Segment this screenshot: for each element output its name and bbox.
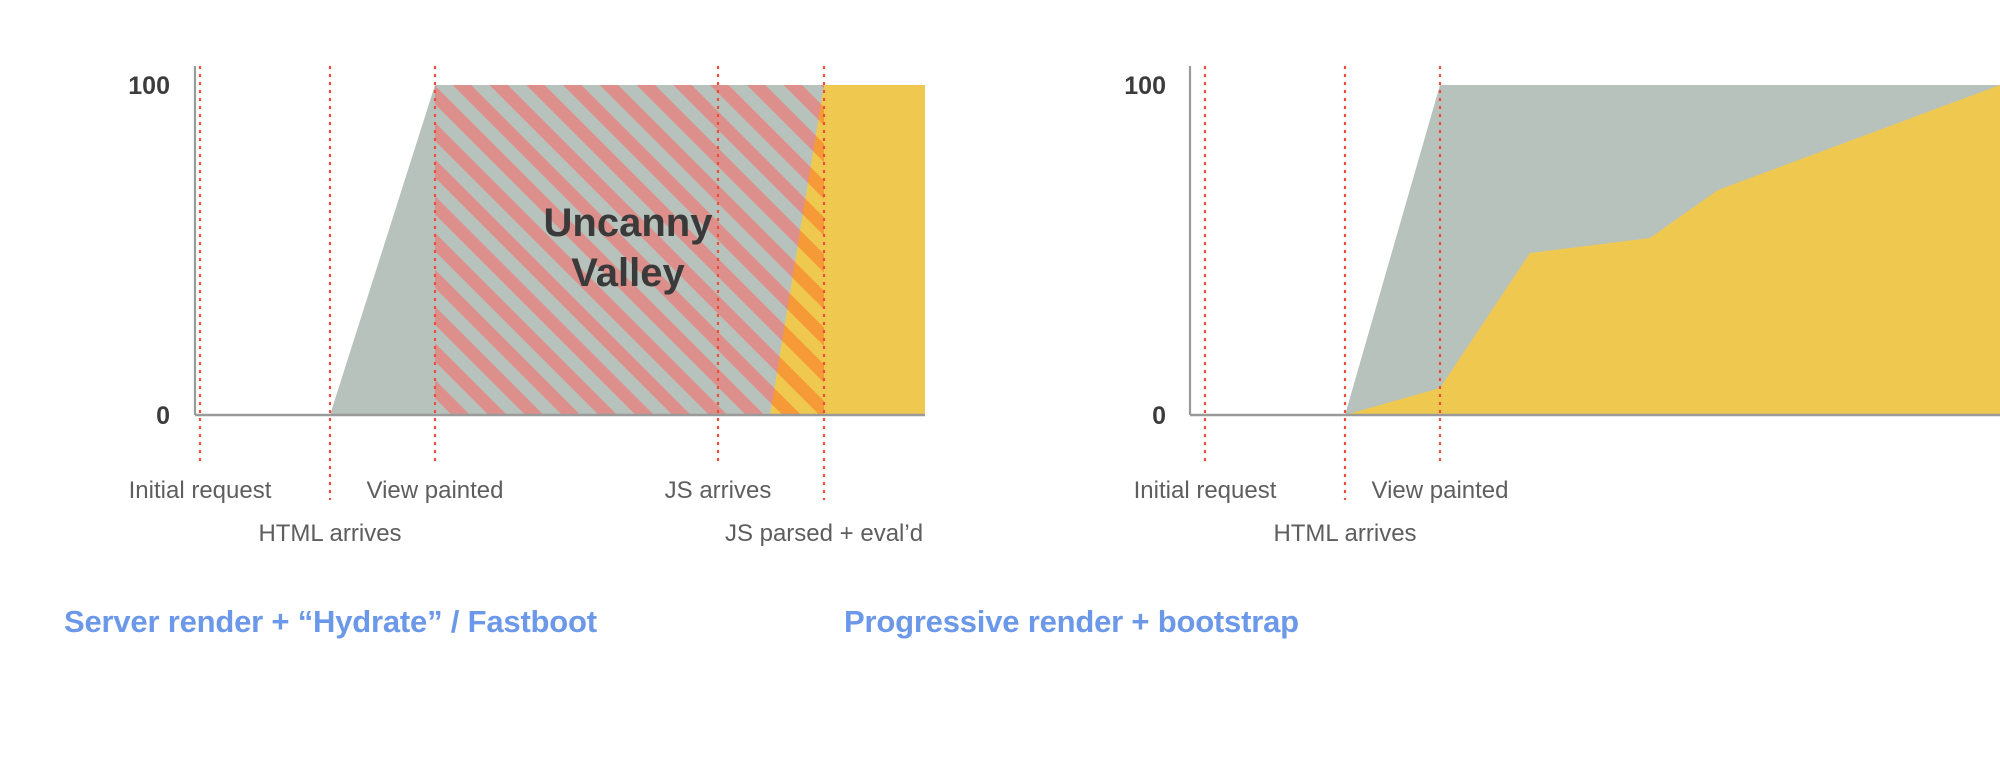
x-label-initial-request: Initial request bbox=[129, 477, 272, 504]
x-label-html-arrives: HTML arrives bbox=[1273, 520, 1416, 547]
x-label-js-parsed-evald: JS parsed + eval’d bbox=[725, 520, 923, 547]
x-label-view-painted: View painted bbox=[1372, 477, 1509, 504]
y-tick-100: 100 bbox=[1124, 72, 1166, 100]
slide-canvas: 100 0 Uncanny Valley Initial request Vie… bbox=[0, 0, 2000, 758]
y-tick-0: 0 bbox=[1152, 402, 1166, 430]
annotation-line-2: Valley bbox=[571, 251, 685, 295]
chart-server-render-svg: 100 0 Uncanny Valley Initial request Vie… bbox=[0, 0, 1000, 590]
chart-panel-server-render: 100 0 Uncanny Valley Initial request Vie… bbox=[0, 0, 1000, 758]
x-label-view-painted: View painted bbox=[367, 477, 504, 504]
y-tick-0: 0 bbox=[156, 402, 170, 430]
y-tick-100: 100 bbox=[128, 72, 170, 100]
x-label-initial-request: Initial request bbox=[1134, 477, 1277, 504]
chart-progressive-render-svg: 100 0 Initial request View painted HTML … bbox=[1000, 0, 2000, 590]
hatched-region-uncanny-valley bbox=[435, 85, 824, 415]
x-label-html-arrives: HTML arrives bbox=[258, 520, 401, 547]
chart-panel-progressive-render: 100 0 Initial request View painted HTML … bbox=[1000, 0, 2000, 758]
annotation-line-1: Uncanny bbox=[544, 201, 714, 245]
caption-server-render: Server render + “Hydrate” / Fastboot bbox=[64, 604, 597, 640]
x-label-js-arrives: JS arrives bbox=[665, 477, 772, 504]
caption-progressive-render: Progressive render + bootstrap bbox=[844, 604, 1299, 640]
